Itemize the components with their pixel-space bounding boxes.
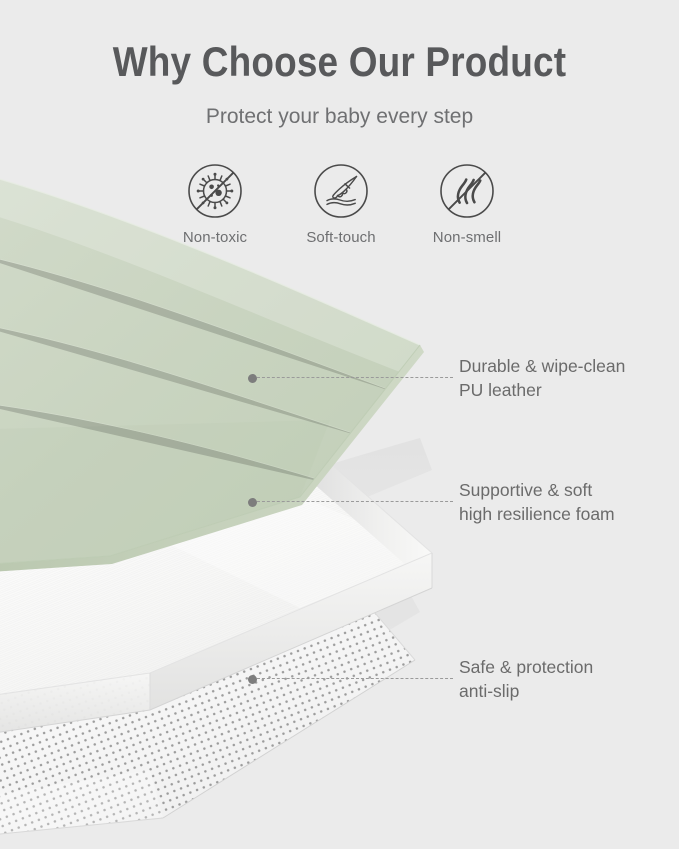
feature-non-smell: Non-smell [415,162,519,246]
feature-label: Non-smell [433,229,501,246]
layer-marker-dot [248,374,257,383]
feature-soft-touch: Soft-touch [289,162,393,246]
callout-line-1: Safe & protection [459,655,593,679]
callout-text: Durable & wipe-clean PU leather [459,354,625,402]
feature-label: Non-toxic [183,229,247,246]
feature-label: Soft-touch [306,229,375,246]
leader-line [257,501,453,502]
page-title: Why Choose Our Product [41,38,639,86]
callout-line-1: Supportive & soft [459,478,615,502]
callout-text: Supportive & soft high resilience foam [459,478,615,526]
feature-non-toxic: Non-toxic [163,162,267,246]
feature-badge-row: Non-toxic [163,162,519,258]
germ-no-slash-icon [186,162,244,220]
layer-marker-dot [248,675,257,684]
callout-line-2: anti-slip [459,679,593,703]
infographic-canvas: Why Choose Our Product Protect your baby… [0,0,679,849]
callout-line-2: PU leather [459,378,625,402]
leader-line [257,678,453,679]
page-subtitle: Protect your baby every step [0,103,679,130]
odor-waves-no-slash-icon [438,162,496,220]
callout-line-2: high resilience foam [459,502,615,526]
leader-line [257,377,453,378]
callout-line-1: Durable & wipe-clean [459,354,625,378]
hand-touch-surface-icon [312,162,370,220]
layer-marker-dot [248,498,257,507]
callout-text: Safe & protection anti-slip [459,655,593,703]
